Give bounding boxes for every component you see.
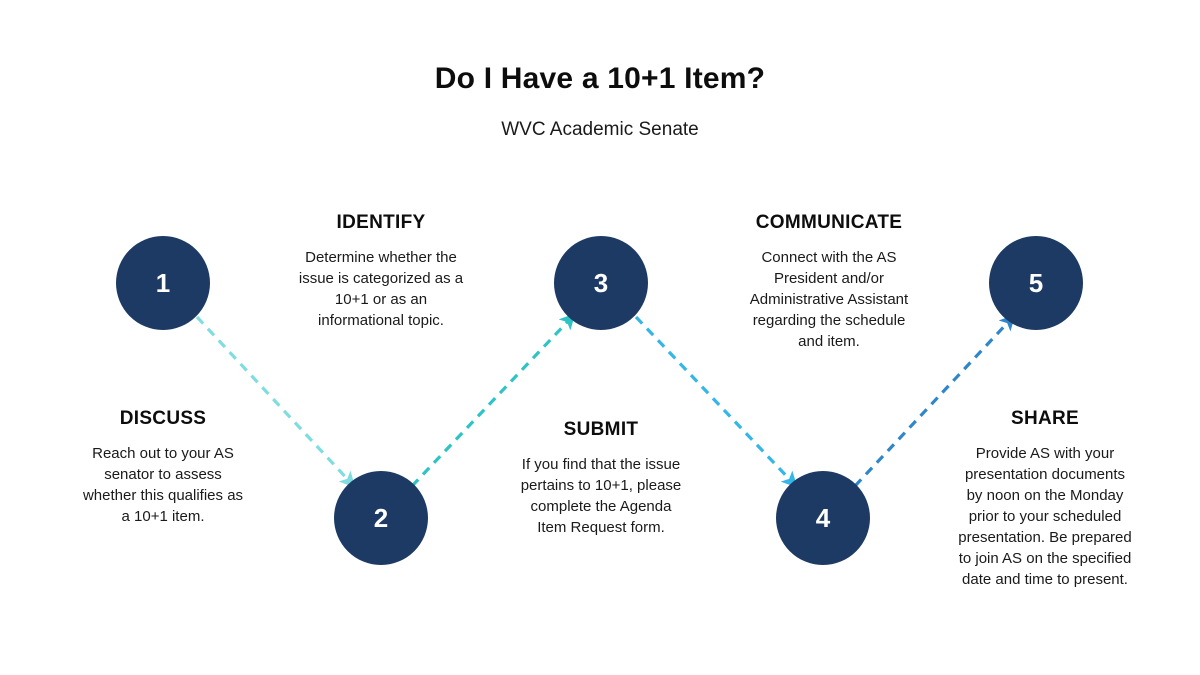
step-block-communicate: COMMUNICATE Connect with the AS Presiden… [716, 212, 942, 352]
step-body-submit: If you find that the issue pertains to 1… [487, 454, 715, 538]
step-title-submit: SUBMIT [487, 419, 715, 441]
step-node-5-number: 5 [1029, 268, 1043, 299]
step-node-5[interactable]: 5 [989, 236, 1083, 330]
step-title-communicate: COMMUNICATE [716, 212, 942, 234]
step-node-3-number: 3 [594, 268, 608, 299]
page-title: Do I Have a 10+1 Item? [0, 62, 1200, 96]
step-node-1[interactable]: 1 [116, 236, 210, 330]
step-node-1-number: 1 [156, 268, 170, 299]
diagram-canvas: Do I Have a 10+1 Item? WVC Academic Sena… [0, 0, 1200, 675]
step-block-identify: IDENTIFY Determine whether the issue is … [267, 212, 495, 331]
step-block-share: SHARE Provide AS with your presentation … [931, 408, 1159, 590]
step-title-share: SHARE [931, 408, 1159, 430]
step-body-identify: Determine whether the issue is categoriz… [267, 247, 495, 331]
page-subtitle: WVC Academic Senate [0, 119, 1200, 141]
step-block-discuss: DISCUSS Reach out to your AS senator to … [48, 408, 278, 527]
step-node-4[interactable]: 4 [776, 471, 870, 565]
step-node-3[interactable]: 3 [554, 236, 648, 330]
step-body-share: Provide AS with your presentation docume… [931, 443, 1159, 590]
step-node-2[interactable]: 2 [334, 471, 428, 565]
step-node-2-number: 2 [374, 503, 388, 534]
step-block-submit: SUBMIT If you find that the issue pertai… [487, 419, 715, 538]
step-body-communicate: Connect with the AS President and/or Adm… [716, 247, 942, 352]
step-title-discuss: DISCUSS [48, 408, 278, 430]
step-title-identify: IDENTIFY [267, 212, 495, 234]
step-body-discuss: Reach out to your AS senator to assess w… [48, 443, 278, 527]
step-node-4-number: 4 [816, 503, 830, 534]
